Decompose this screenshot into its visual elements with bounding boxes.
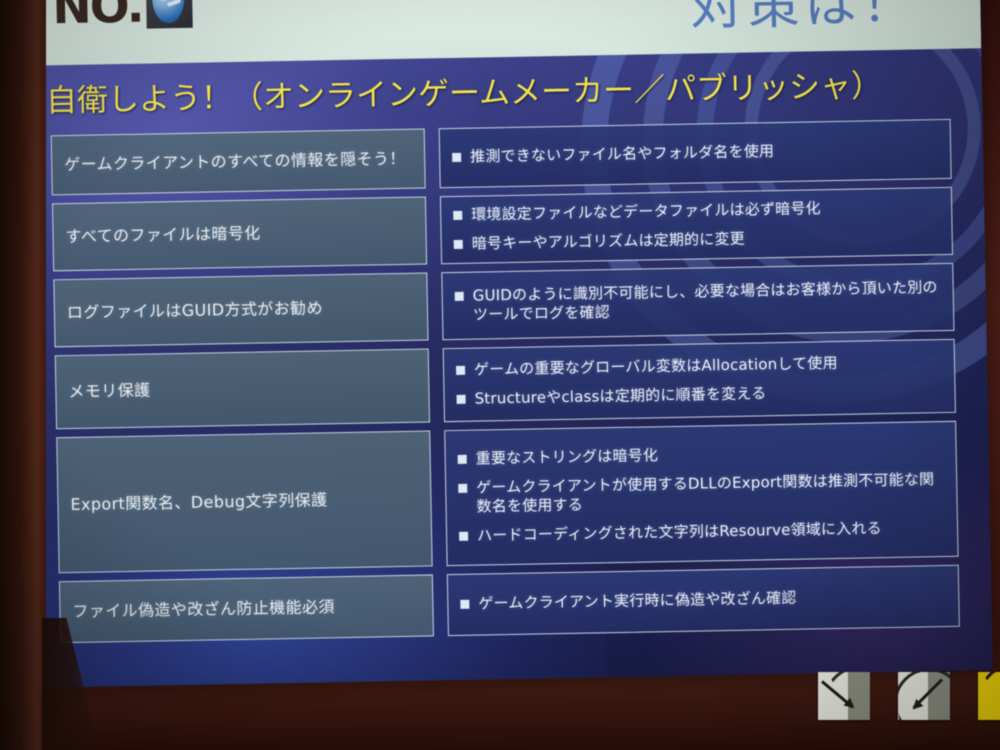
row-category-label: ログファイルはGUID方式がお勧め bbox=[67, 298, 323, 324]
square-bullet-icon bbox=[455, 291, 464, 300]
bullet-text: ハードコーディングされた文字列はResourve領域に入れる bbox=[477, 518, 945, 546]
list-item: 推測できないファイル名やフォルダ名を使用 bbox=[452, 139, 938, 167]
row-detail-cell: 推測できないファイル名やフォルダ名を使用 bbox=[439, 119, 952, 188]
list-item: ゲームクライアント実行時に偽造や改ざん確認 bbox=[460, 586, 946, 614]
projected-slide-photo: NO. 対策は！ 自衛しよう！（オンラインゲームメーカー／パブリッシャ） ゲーム… bbox=[0, 0, 1000, 750]
bullet-text: GUIDのように識別不可能にし、必要な場合はお客様から頂いた別のツールでログを確… bbox=[473, 278, 942, 326]
list-item: 重要なストリングは暗号化 bbox=[458, 441, 944, 469]
list-item: 暗号キーやアルゴリズムは定期的に変更 bbox=[454, 226, 940, 254]
row-category-cell: ログファイルはGUID方式がお勧め bbox=[53, 272, 428, 347]
table-row: すべてのファイルは暗号化 環境設定ファイルなどデータファイルは必ず暗号化 暗号キ… bbox=[52, 187, 953, 271]
square-bullet-icon bbox=[456, 366, 465, 375]
table-row: Export関数名、Debug文字列保護 重要なストリングは暗号化 ゲームクライ… bbox=[56, 421, 958, 573]
row-category-cell: ファイル偽造や改ざん防止機能必須 bbox=[59, 574, 434, 643]
bullet-text: 暗号キーやアルゴリズムは定期的に変更 bbox=[472, 226, 940, 254]
row-detail-cell: 重要なストリングは暗号化 ゲームクライアントが使用するDLLのExport関数は… bbox=[444, 421, 958, 566]
content-table: ゲームクライアントのすべての情報を隠そう！ 推測できないファイル名やフォルダ名を… bbox=[51, 119, 960, 651]
table-row: メモリ保護 ゲームの重要なグローバル変数はAllocationして使用 Stru… bbox=[55, 339, 956, 429]
slide-heading: 対策は！ bbox=[690, 0, 919, 37]
row-detail-cell: 環境設定ファイルなどデータファイルは必ず暗号化 暗号キーやアルゴリズムは定期的に… bbox=[440, 187, 953, 264]
row-category-label: Export関数名、Debug文字列保護 bbox=[70, 490, 327, 516]
square-bullet-icon bbox=[460, 600, 469, 609]
table-row: ログファイルはGUID方式がお勧め GUIDのように識別不可能にし、必要な場合は… bbox=[53, 263, 954, 347]
row-category-cell: Export関数名、Debug文字列保護 bbox=[56, 430, 432, 573]
bullet-text: Structureやclassは定期的に順番を変える bbox=[474, 381, 942, 409]
row-detail-cell: ゲームクライアント実行時に偽造や改ざん確認 bbox=[447, 565, 960, 636]
list-item: GUIDのように識別不可能にし、必要な場合はお客様から頂いた別のツールでログを確… bbox=[455, 278, 942, 326]
thumbnail-arrow-up-left bbox=[818, 672, 870, 720]
row-category-label: ファイル偽造や改ざん防止機能必須 bbox=[72, 596, 335, 622]
row-category-cell: すべてのファイルは暗号化 bbox=[52, 196, 427, 271]
row-detail-cell: GUIDのように識別不可能にし、必要な場合はお客様から頂いた別のツールでログを確… bbox=[441, 263, 954, 340]
row-category-cell: メモリ保護 bbox=[55, 348, 430, 429]
shield-logo-icon bbox=[146, 0, 193, 29]
list-item: ゲームの重要なグローバル変数はAllocationして使用 bbox=[456, 352, 942, 380]
list-item: 環境設定ファイルなどデータファイルは必ず暗号化 bbox=[453, 197, 939, 225]
list-item: ゲームクライアントが使用するDLLのExport関数は推測不可能な関数名を使用す… bbox=[458, 470, 945, 518]
bullet-text: ゲームクライアントが使用するDLLのExport関数は推測不可能な関数名を使用す… bbox=[476, 470, 945, 518]
row-category-label: すべてのファイルは暗号化 bbox=[65, 223, 260, 248]
square-bullet-icon bbox=[457, 394, 466, 403]
row-category-label: ゲームクライアントのすべての情報を隠そう！ bbox=[64, 148, 406, 176]
screen-frame-pole bbox=[0, 0, 46, 750]
square-bullet-icon bbox=[458, 455, 467, 464]
list-item: Structureやclassは定期的に順番を変える bbox=[456, 381, 942, 409]
bullet-text: 重要なストリングは暗号化 bbox=[476, 441, 944, 469]
square-bullet-icon bbox=[459, 531, 468, 540]
square-bullet-icon bbox=[453, 211, 462, 220]
square-bullet-icon bbox=[454, 239, 463, 248]
bullet-text: 環境設定ファイルなどデータファイルは必ず暗号化 bbox=[471, 197, 939, 225]
presentation-slide: NO. 対策は！ 自衛しよう！（オンラインゲームメーカー／パブリッシャ） ゲーム… bbox=[14, 0, 993, 688]
bullet-text: ゲームの重要なグローバル変数はAllocationして使用 bbox=[474, 352, 942, 380]
list-item: ハードコーディングされた文字列はResourve領域に入れる bbox=[459, 518, 945, 546]
thumbnail-yellow-blue bbox=[978, 672, 1000, 720]
row-detail-cell: ゲームの重要なグローバル変数はAllocationして使用 Structureや… bbox=[443, 339, 956, 422]
table-row: ファイル偽造や改ざん防止機能必須 ゲームクライアント実行時に偽造や改ざん確認 bbox=[59, 565, 960, 643]
row-category-cell: ゲームクライアントのすべての情報を隠そう！ bbox=[51, 128, 426, 195]
square-bullet-icon bbox=[452, 153, 461, 162]
arc-icon bbox=[978, 672, 1000, 720]
logo: NO. bbox=[52, 0, 233, 31]
logo-text: NO. bbox=[52, 0, 143, 31]
row-category-label: メモリ保護 bbox=[68, 380, 150, 403]
square-bullet-icon bbox=[458, 483, 467, 492]
thumbnail-strip bbox=[818, 672, 1000, 720]
bullet-text: 推測できないファイル名やフォルダ名を使用 bbox=[470, 139, 938, 167]
arc-icon bbox=[824, 672, 870, 720]
bullet-text: ゲームクライアント実行時に偽造や改ざん確認 bbox=[478, 586, 946, 614]
thumbnail-arrow-down-right bbox=[898, 672, 950, 720]
slide-subtitle: 自衛しよう！（オンラインゲームメーカー／パブリッシャ） bbox=[46, 60, 883, 120]
